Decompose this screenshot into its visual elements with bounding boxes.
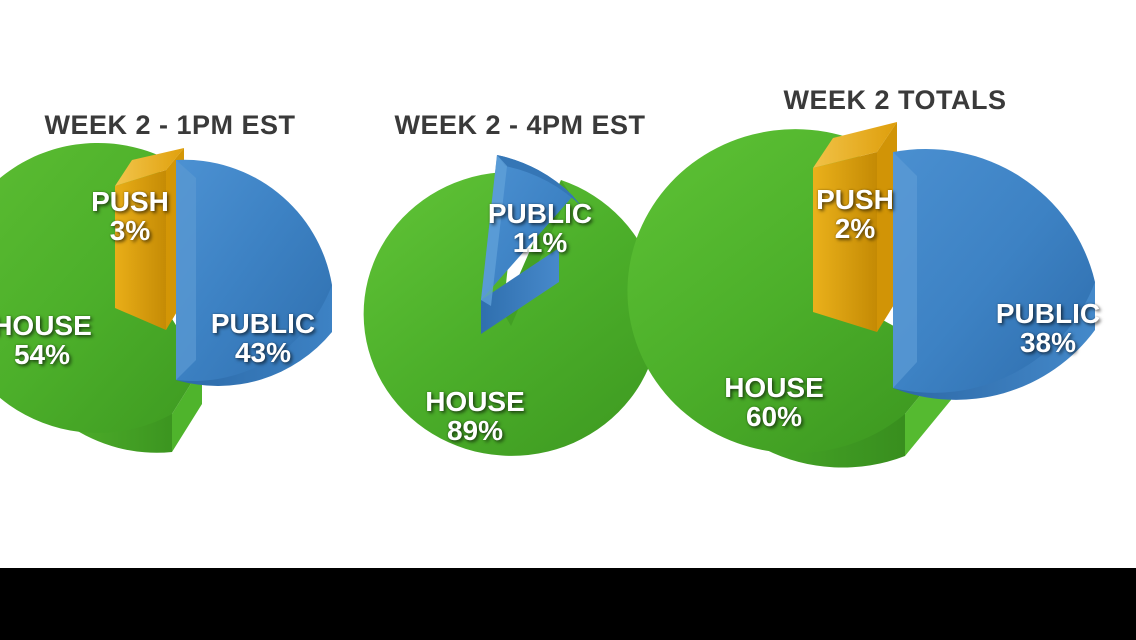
letterbox-bar bbox=[0, 568, 1136, 640]
public-slice-inner-wall bbox=[176, 160, 196, 380]
pie-chart-week2-1pm: WEEK 2 - 1PM EST bbox=[0, 0, 360, 568]
chart-title: WEEK 2 - 4PM EST bbox=[355, 110, 685, 141]
public-slice-inner-wall bbox=[893, 152, 917, 388]
pie-graphic bbox=[0, 0, 360, 568]
chart-canvas: WEEK 2 - 1PM EST bbox=[0, 0, 1136, 640]
push-slice-depth bbox=[813, 152, 877, 332]
chart-title: WEEK 2 TOTALS bbox=[665, 85, 1125, 116]
chart-title: WEEK 2 - 1PM EST bbox=[0, 110, 360, 141]
push-slice-depth bbox=[115, 170, 166, 330]
pie-chart-week2-totals: WEEK 2 TOTALS bbox=[665, 0, 1125, 568]
